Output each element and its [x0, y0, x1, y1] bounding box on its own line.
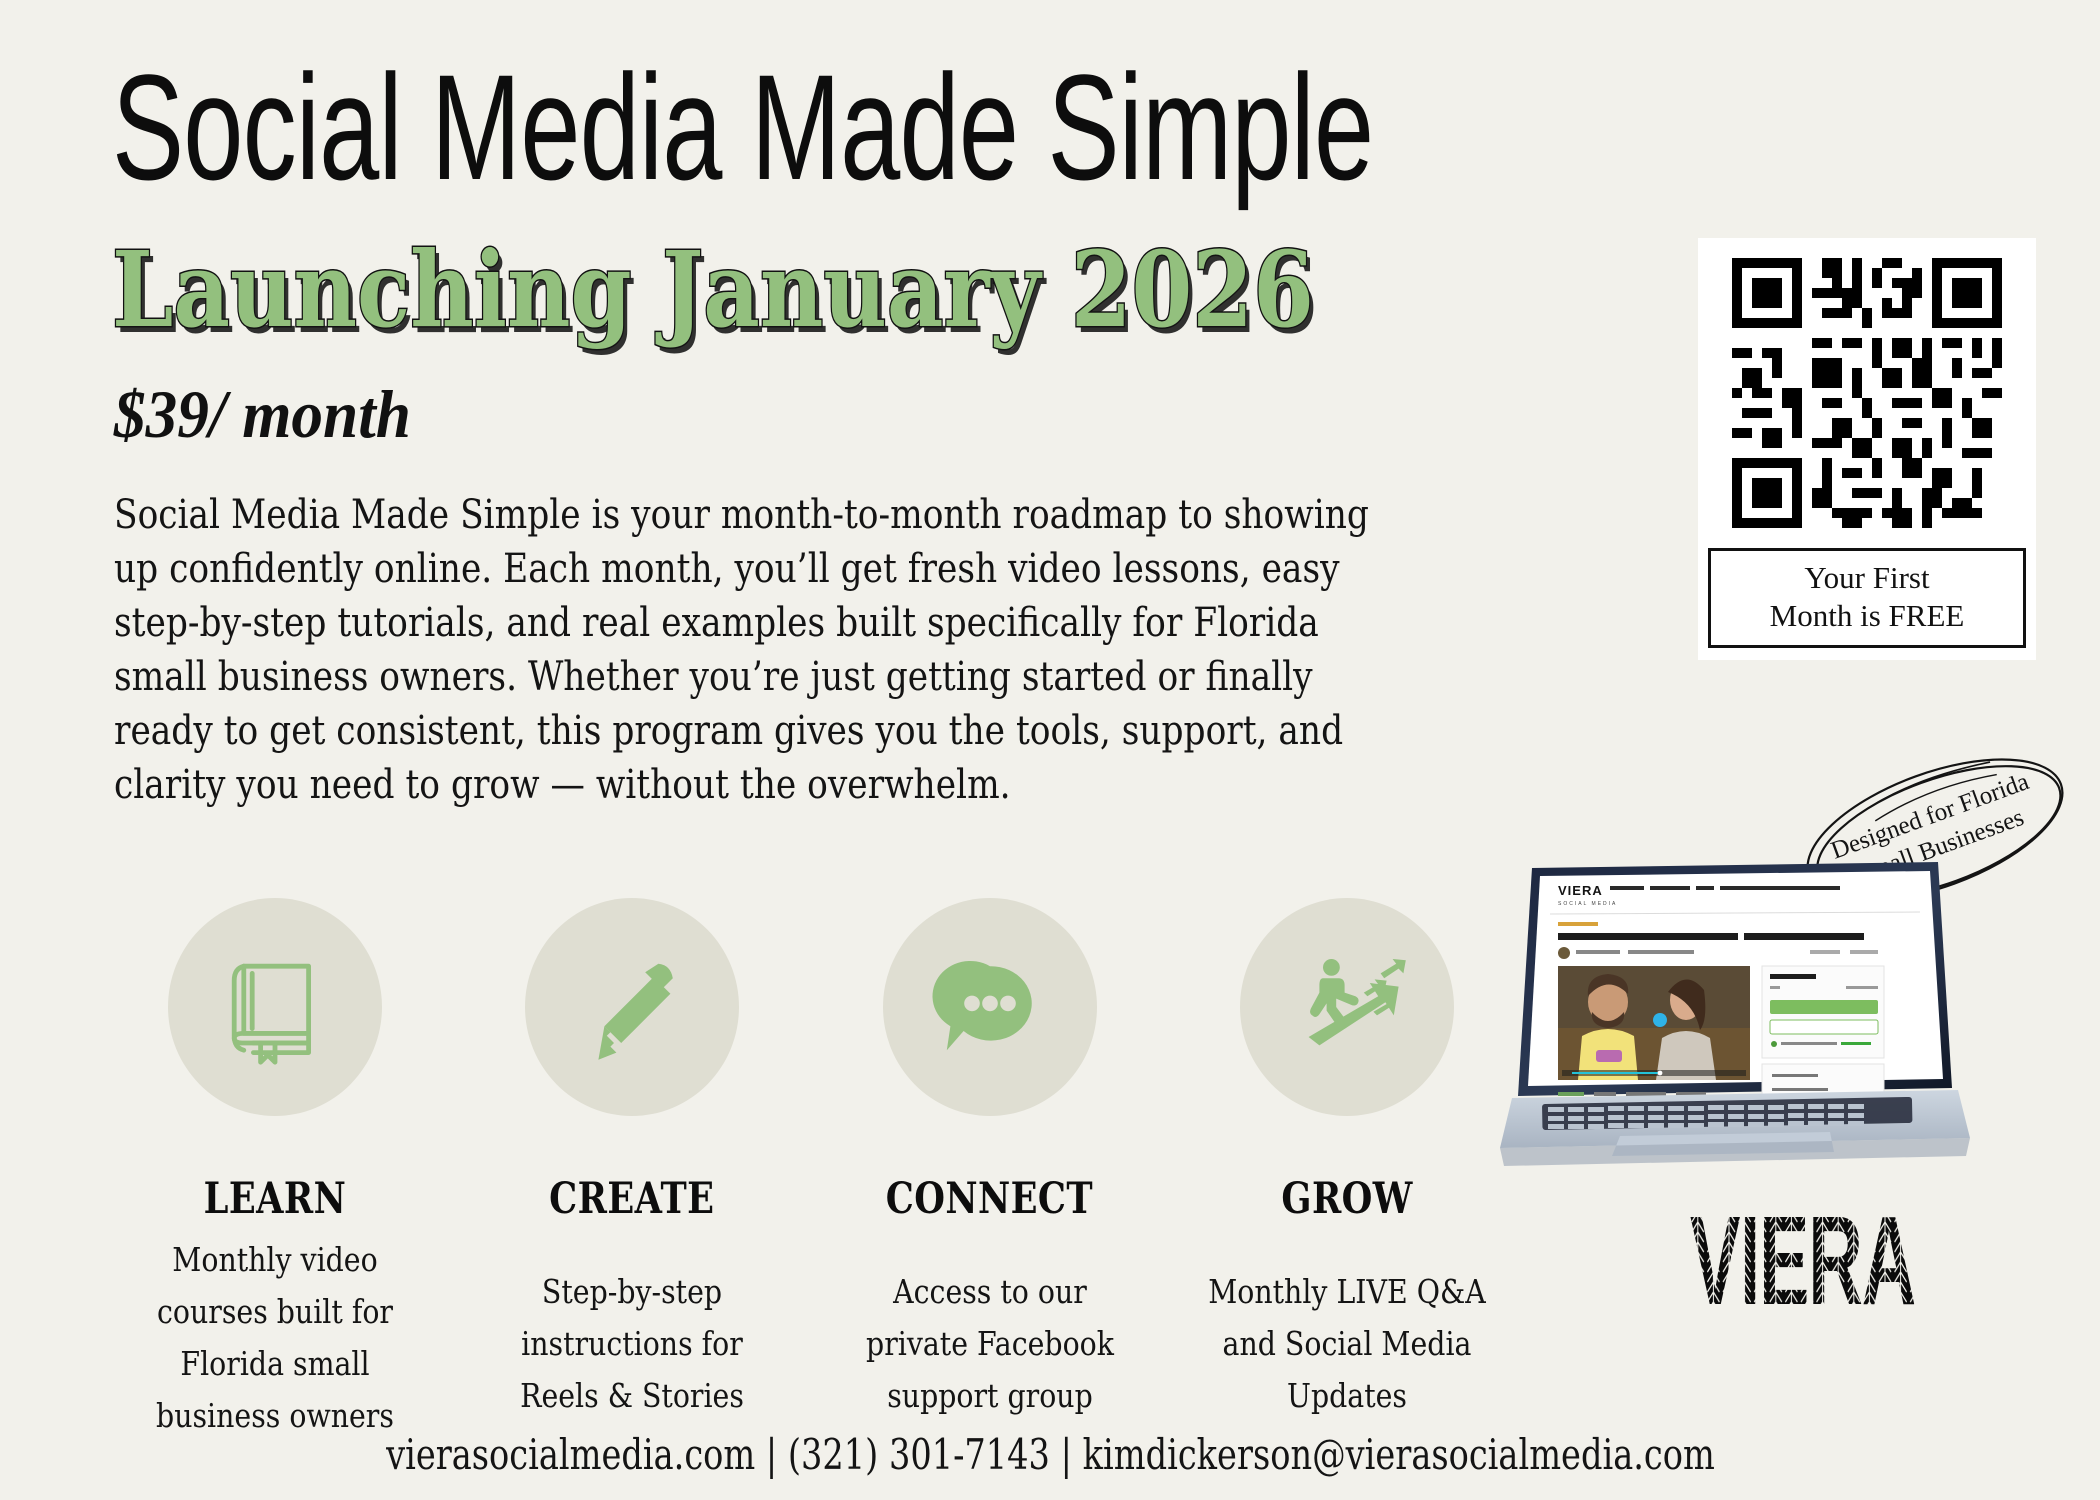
- growth-arrow-icon: [1287, 947, 1407, 1067]
- qr-caption: Your First Month is FREE: [1708, 548, 2026, 648]
- viera-logo: VIERA S O C I A L M E D I A: [1690, 1200, 2020, 1380]
- book-icon: [215, 947, 335, 1067]
- feature-description: Access to our private Facebook support g…: [848, 1266, 1132, 1422]
- launch-subtitle: Launching January 2026: [112, 238, 1314, 342]
- flyer-canvas: Social Media Made Simple Launching Janua…: [0, 0, 2100, 1500]
- speech-bubble-icon: [930, 947, 1050, 1067]
- feature-icon-disc: [1240, 898, 1454, 1116]
- feature-connect: CONNECT Access to our private Facebook s…: [811, 898, 1169, 1442]
- feature-list: LEARN Monthly video courses built for Fl…: [96, 898, 1526, 1442]
- laptop-video-player: [1558, 966, 1750, 1080]
- qr-caption-line1: Your First: [1715, 559, 2019, 597]
- feature-description: Step-by-step instructions for Reels & St…: [490, 1266, 774, 1422]
- qr-block[interactable]: Your First Month is FREE: [1698, 238, 2036, 660]
- feature-icon-disc: [168, 898, 382, 1116]
- svg-text:VIERA: VIERA: [1558, 883, 1603, 898]
- complete-course-button: [1770, 1020, 1878, 1034]
- feature-heading: CONNECT: [886, 1174, 1093, 1224]
- page-title: Social Media Made Simple: [112, 52, 1373, 202]
- viera-wordmark: VIERA: [1690, 1200, 1915, 1332]
- feature-learn: LEARN Monthly video courses built for Fl…: [96, 898, 454, 1442]
- feature-heading: CREATE: [550, 1174, 715, 1224]
- svg-text:SOCIAL MEDIA: SOCIAL MEDIA: [1558, 901, 1617, 907]
- feature-description: Monthly video courses built for Florida …: [133, 1234, 417, 1442]
- feature-heading: LEARN: [203, 1174, 346, 1224]
- feature-grow: GROW Monthly LIVE Q&A and Social Media U…: [1169, 898, 1527, 1442]
- pencil-icon: [572, 947, 692, 1067]
- laptop-mockup: VIERA SOCIAL MEDIA: [1500, 860, 1970, 1190]
- qr-caption-line2: Month is FREE: [1715, 597, 2019, 635]
- body-paragraph: Social Media Made Simple is your month-t…: [114, 488, 1404, 812]
- feature-description: Monthly LIVE Q&A and Social Media Update…: [1205, 1266, 1489, 1422]
- price-label: $39/ month: [114, 380, 411, 448]
- feature-create: CREATE Step-by-step instructions for Ree…: [454, 898, 812, 1442]
- footer-text: vierasocialmedia.com | (321) 301-7143 | …: [386, 1430, 1715, 1479]
- start-learning-button: [1770, 1000, 1878, 1014]
- qr-code-icon[interactable]: [1708, 248, 2026, 538]
- feature-icon-disc: [525, 898, 739, 1116]
- feature-heading: GROW: [1282, 1174, 1413, 1224]
- feature-icon-disc: [883, 898, 1097, 1116]
- footer-contact: vierasocialmedia.com | (321) 301-7143 | …: [0, 1430, 2100, 1479]
